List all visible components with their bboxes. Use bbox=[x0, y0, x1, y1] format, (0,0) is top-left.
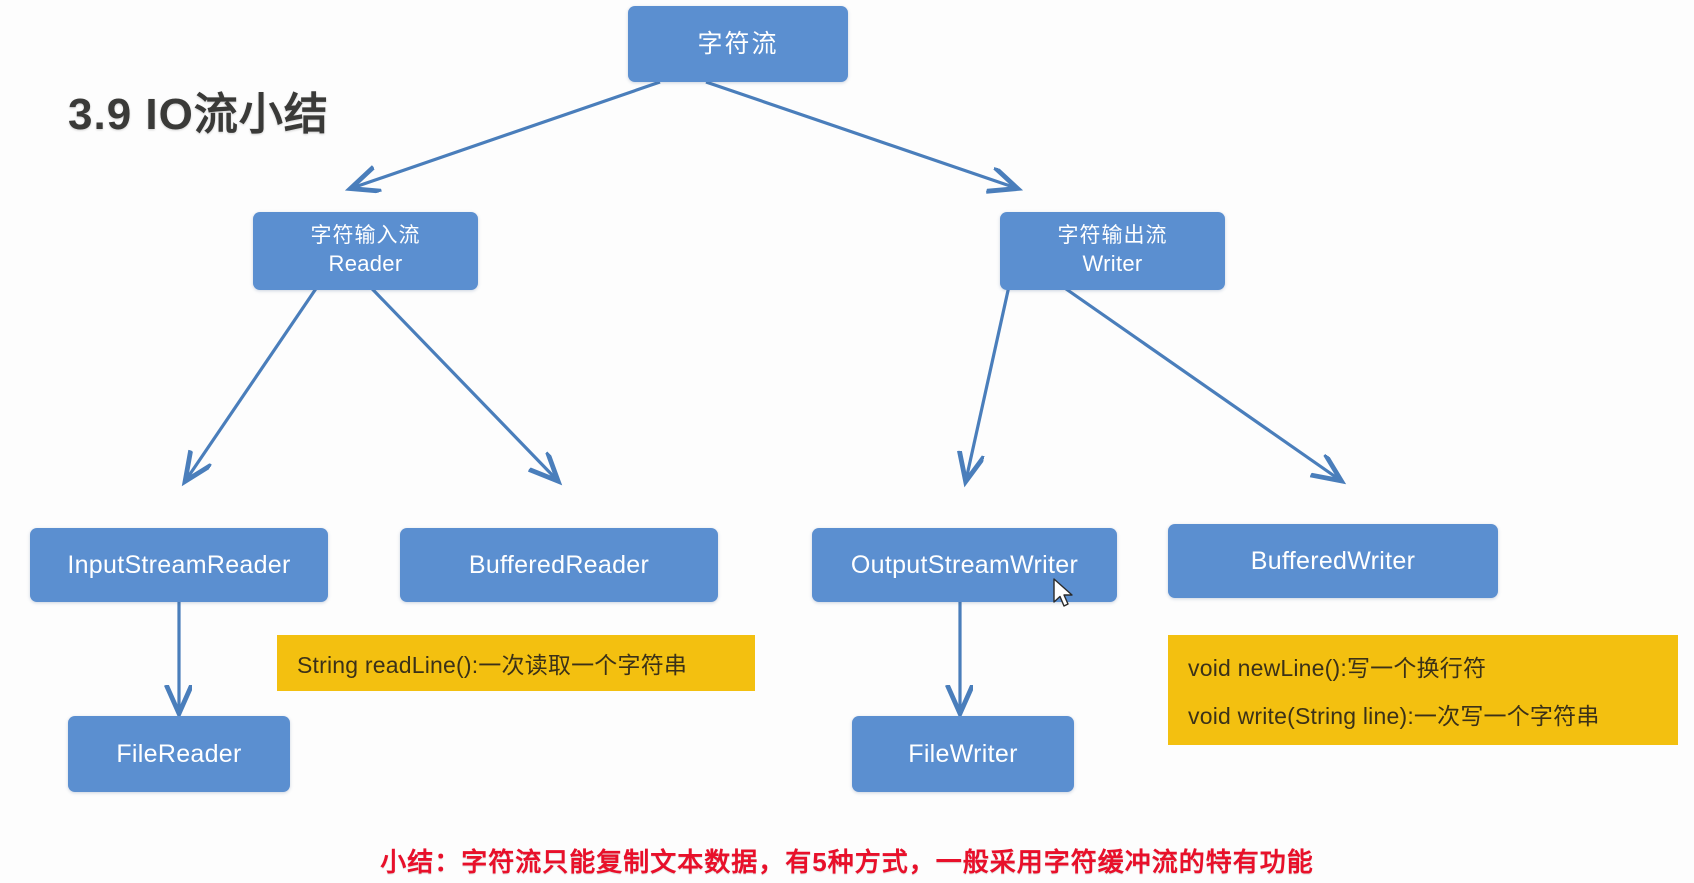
node-file-reader-label: FileReader bbox=[116, 738, 241, 770]
node-file-writer[interactable]: FileWriter bbox=[852, 716, 1074, 792]
node-character-stream-label: 字符流 bbox=[697, 28, 778, 60]
node-file-writer-label: FileWriter bbox=[908, 738, 1017, 770]
edge-writer-to-output-stream-writer bbox=[966, 268, 1013, 480]
node-writer[interactable]: 字符输出流 Writer bbox=[1000, 212, 1225, 290]
page-title: 3.9 IO流小结 bbox=[68, 78, 329, 142]
slide-canvas: 3.9 IO流小结 字符流 字符输入流 Reader 字符输出流 Writer … bbox=[0, 0, 1694, 883]
node-input-stream-reader[interactable]: InputStreamReader bbox=[30, 528, 328, 602]
node-reader[interactable]: 字符输入流 Reader bbox=[253, 212, 478, 290]
node-buffered-reader-label: BufferedReader bbox=[469, 549, 649, 581]
note-line: void write(String line):一次写一个字符串 bbox=[1188, 697, 1658, 731]
edge-reader-to-input-stream-reader bbox=[186, 268, 330, 480]
node-buffered-writer[interactable]: BufferedWriter bbox=[1168, 524, 1498, 598]
edge-reader-to-buffered-reader bbox=[352, 268, 557, 480]
node-buffered-writer-label: BufferedWriter bbox=[1251, 545, 1415, 577]
edge-writer-to-buffered-writer bbox=[1036, 268, 1340, 480]
node-reader-cn-label: 字符输入流 bbox=[311, 223, 421, 250]
node-reader-en-label: Reader bbox=[329, 250, 403, 278]
summary-text: 小结：字符流只能复制文本数据，有5种方式，一般采用字符缓冲流的特有功能 bbox=[0, 842, 1694, 879]
edge-root-to-reader bbox=[352, 82, 660, 188]
node-output-stream-writer[interactable]: OutputStreamWriter bbox=[812, 528, 1117, 602]
node-output-stream-writer-label: OutputStreamWriter bbox=[851, 549, 1078, 581]
node-buffered-reader[interactable]: BufferedReader bbox=[400, 528, 718, 602]
node-character-stream[interactable]: 字符流 bbox=[628, 6, 848, 82]
node-writer-cn-label: 字符输出流 bbox=[1058, 223, 1168, 250]
note-line: String readLine():一次读取一个字符串 bbox=[297, 646, 735, 680]
note-buffered-reader-method: String readLine():一次读取一个字符串 bbox=[277, 635, 755, 691]
note-line: void newLine():写一个换行符 bbox=[1188, 649, 1658, 683]
edge-root-to-writer bbox=[706, 82, 1016, 188]
node-file-reader[interactable]: FileReader bbox=[68, 716, 290, 792]
node-writer-en-label: Writer bbox=[1082, 250, 1142, 278]
node-input-stream-reader-label: InputStreamReader bbox=[67, 549, 290, 581]
note-buffered-writer-methods: void newLine():写一个换行符 void write(String … bbox=[1168, 635, 1678, 745]
